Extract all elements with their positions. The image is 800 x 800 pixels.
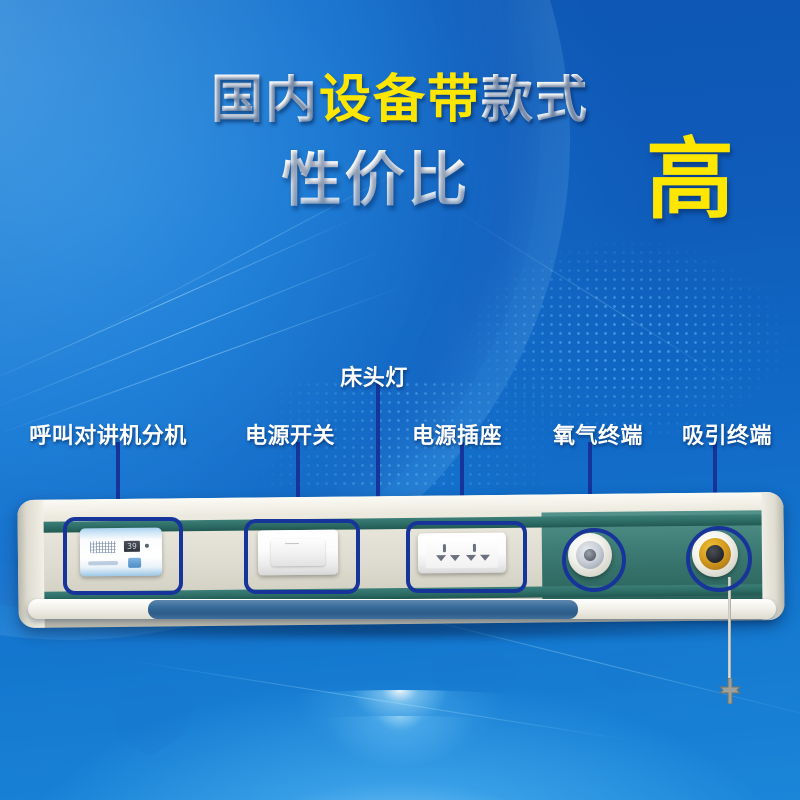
- panel-rail-dark-insert: [148, 600, 578, 619]
- pull-cord[interactable]: [728, 577, 731, 685]
- callout-label-intercom: 呼叫对讲机分机: [29, 418, 187, 450]
- highlight-circle-oxygen: [562, 528, 626, 592]
- callout-layer: 呼叫对讲机分机 电源开关 床头灯 电源插座 氧气终端 吸引终端: [0, 0, 800, 800]
- highlight-box-switch: [244, 519, 360, 594]
- highlight-box-intercom: [63, 517, 183, 595]
- highlight-box-socket: [406, 521, 527, 593]
- callout-label-oxygen: 氧气终端: [553, 418, 643, 450]
- callout-label-switch: 电源开关: [245, 418, 335, 450]
- promo-image-root: 国内设备带款式 性价比 高 呼叫对讲机分机 电源开关 床头灯 电源插座 氧气终端…: [0, 0, 800, 800]
- callout-label-suction: 吸引终端: [682, 418, 772, 450]
- callout-label-socket: 电源插座: [412, 418, 502, 450]
- highlight-circle-suction: [686, 526, 752, 592]
- callout-label-bed-lamp: 床头灯: [340, 360, 408, 392]
- pull-cord-hook-icon[interactable]: [719, 678, 741, 704]
